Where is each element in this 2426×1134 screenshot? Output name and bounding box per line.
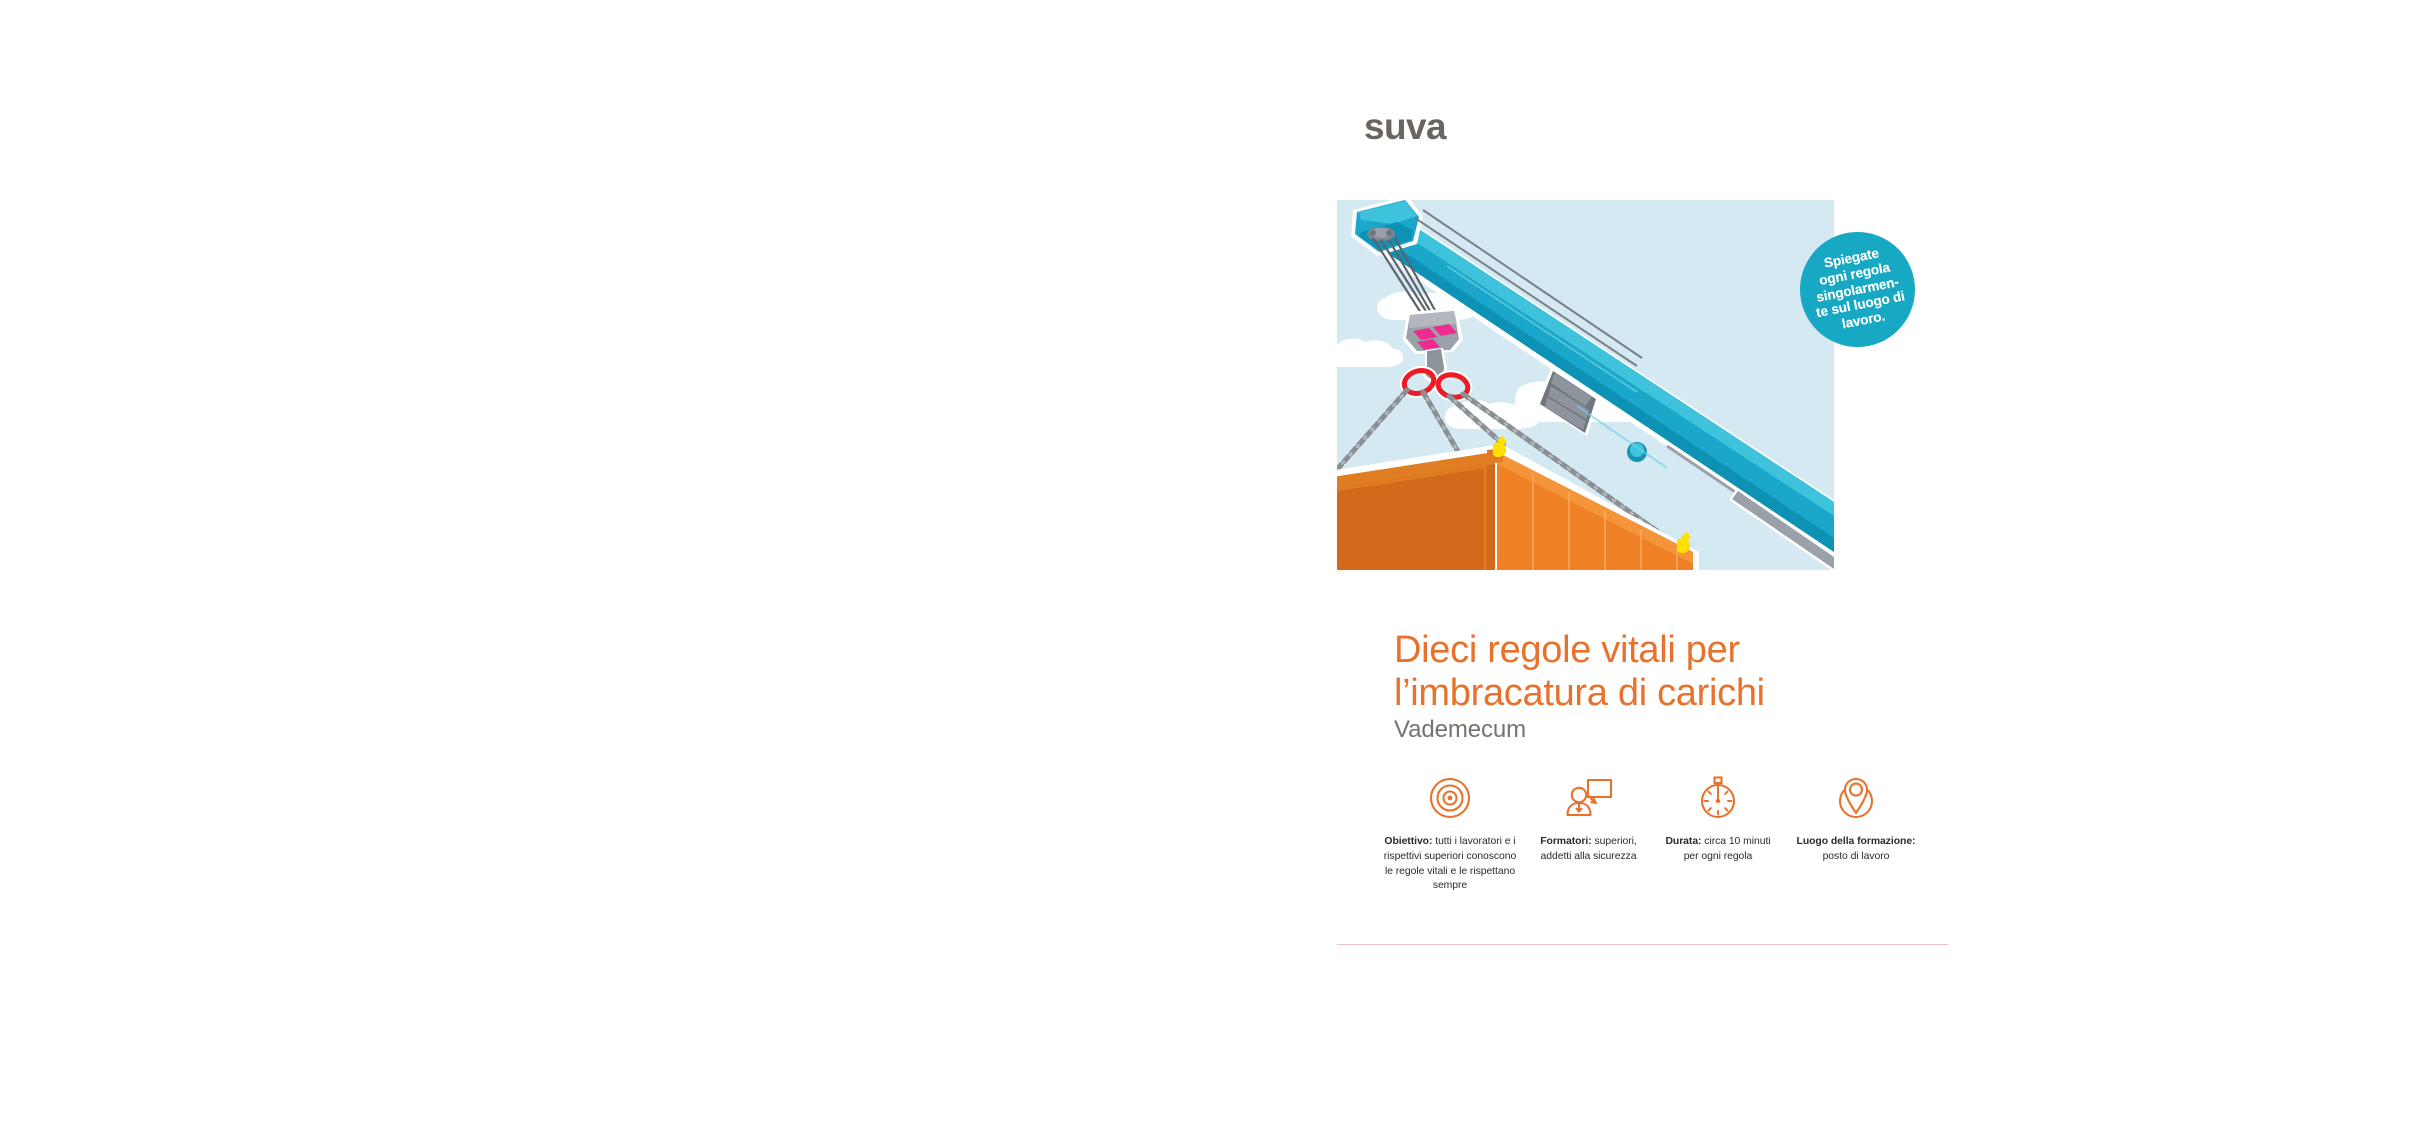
page-title: Dieci regole vitali per l’imbracatura di…: [1394, 629, 1874, 714]
info-item-label: Luogo della formazione:: [1797, 836, 1916, 847]
status-badge-text: Spiegate ogni regola singolarmen- te sul…: [1801, 241, 1914, 338]
info-item-label: Formatori:: [1540, 836, 1591, 847]
info-item-label: Durata:: [1665, 836, 1701, 847]
suva-logo: suva: [1364, 108, 1446, 145]
document-page: suva: [0, 0, 2426, 1134]
info-item-label: Obiettivo:: [1384, 836, 1432, 847]
footer-divider: [1337, 944, 1948, 945]
info-item-caption: Luogo della formazione: posto di lavoro: [1780, 835, 1932, 865]
page-subtitle: Vademecum: [1394, 716, 1526, 744]
info-item-trainers: Formatori: superiori, addetti alla sicur…: [1521, 775, 1656, 865]
info-item-caption: Durata: circa 10 minuti per ogni regola: [1656, 835, 1780, 865]
trainer-presentation-icon: [1564, 775, 1614, 821]
info-item-value: posto di lavoro: [1823, 851, 1890, 862]
target-icon: [1428, 775, 1472, 821]
info-item-caption: Obiettivo: tutti i lavoratori e i rispet…: [1379, 835, 1521, 894]
info-item-caption: Formatori: superiori, addetti alla sicur…: [1521, 835, 1656, 865]
crane-lifting-container-icon: [1337, 200, 1834, 570]
cover-content-column: suva: [1337, 0, 1957, 1134]
info-item-duration: Durata: circa 10 minuti per ogni regola: [1656, 775, 1780, 865]
info-item-objective: Obiettivo: tutti i lavoratori e i rispet…: [1379, 775, 1521, 894]
location-pin-icon: [1834, 775, 1878, 821]
hero-illustration: [1337, 200, 1834, 570]
stopwatch-icon: [1696, 775, 1740, 821]
info-strip: Obiettivo: tutti i lavoratori e i rispet…: [1379, 775, 1939, 894]
info-item-location: Luogo della formazione: posto di lavoro: [1780, 775, 1932, 865]
